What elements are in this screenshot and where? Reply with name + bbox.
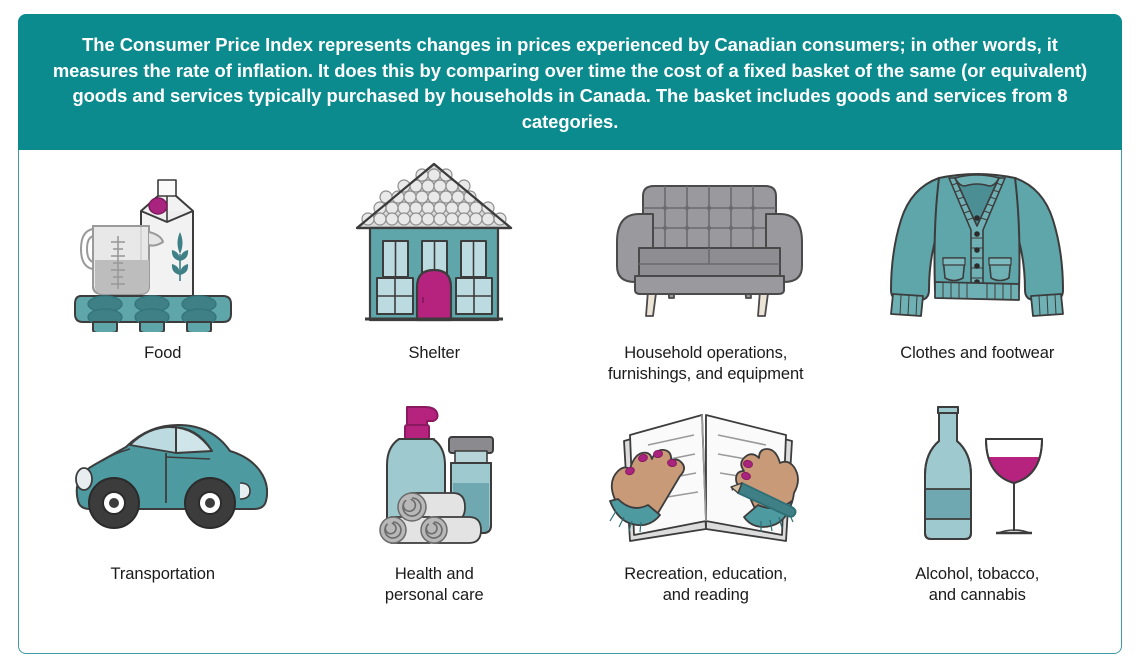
header-panel: The Consumer Price Index represents chan… xyxy=(18,14,1122,150)
category-label: Recreation, education, and reading xyxy=(624,564,787,606)
cardigan-icon xyxy=(842,156,1114,332)
category-alcohol[interactable]: Alcohol, tobacco, and cannabis xyxy=(842,401,1114,646)
toiletries-icon xyxy=(299,401,571,551)
category-label: Transportation xyxy=(111,564,215,585)
category-food[interactable]: Food xyxy=(27,156,299,401)
categories-grid: Food xyxy=(19,150,1121,653)
category-label: Household operations, furnishings, and e… xyxy=(608,343,804,385)
hands-writing-book-icon xyxy=(570,401,842,551)
category-shelter[interactable]: Shelter xyxy=(299,156,571,401)
category-label: Health and personal care xyxy=(385,564,484,606)
category-label: Clothes and footwear xyxy=(900,343,1054,364)
wine-bottle-glass-icon xyxy=(842,401,1114,551)
categories-panel: Food xyxy=(18,150,1122,654)
category-clothes[interactable]: Clothes and footwear xyxy=(842,156,1114,401)
category-label: Shelter xyxy=(408,343,460,364)
sofa-icon xyxy=(570,156,842,332)
category-label: Alcohol, tobacco, and cannabis xyxy=(915,564,1039,606)
car-icon xyxy=(27,401,299,551)
category-recreation[interactable]: Recreation, education, and reading xyxy=(570,401,842,646)
infographic-frame: The Consumer Price Index represents chan… xyxy=(18,14,1122,654)
category-label: Food xyxy=(144,343,181,364)
category-health[interactable]: Health and personal care xyxy=(299,401,571,646)
header-text: The Consumer Price Index represents chan… xyxy=(53,34,1087,132)
category-household[interactable]: Household operations, furnishings, and e… xyxy=(570,156,842,401)
category-transportation[interactable]: Transportation xyxy=(27,401,299,646)
house-icon xyxy=(299,156,571,332)
food-basket-icon xyxy=(27,156,299,332)
